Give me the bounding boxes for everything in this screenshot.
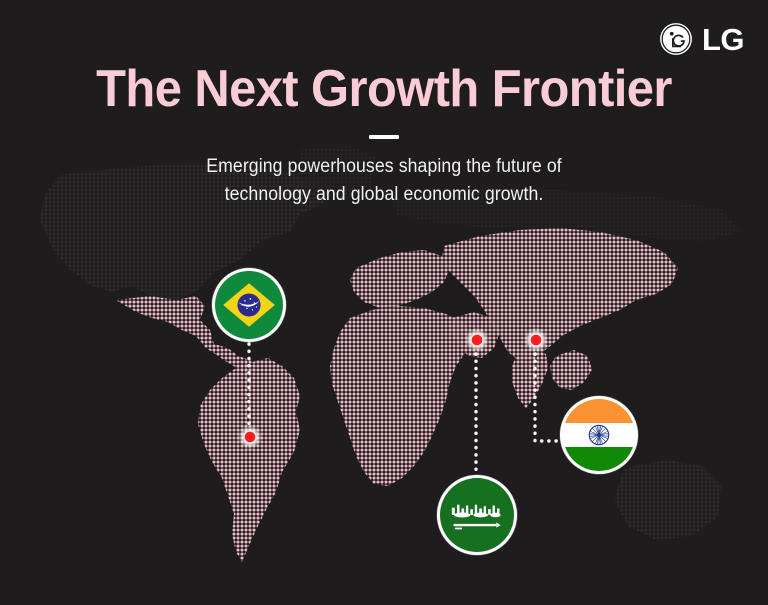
header: The Next Growth Frontier Emerging powerh… (0, 62, 768, 208)
page-title: The Next Growth Frontier (23, 62, 745, 117)
title-divider (369, 135, 399, 139)
flag-saudi-arabia-icon (440, 478, 514, 552)
poster-canvas: LG The Next Growth Frontier Emerging pow… (0, 0, 768, 605)
flag-badge-saudi-arabia[interactable] (437, 475, 517, 555)
flag-india-icon (563, 399, 635, 471)
subtitle-line-1: Emerging powerhouses shaping the future … (27, 153, 741, 181)
lg-wordmark: LG (702, 24, 744, 55)
lg-logo: LG (659, 22, 744, 56)
subtitle-line-2: technology and global economic growth. (27, 181, 741, 209)
map-pin-saudi-arabia[interactable] (464, 327, 490, 353)
flag-brazil-icon (215, 271, 283, 339)
flag-badge-brazil[interactable] (212, 268, 286, 342)
flag-badge-india[interactable] (560, 396, 638, 474)
lg-logo-icon (659, 22, 693, 56)
map-pin-india[interactable] (523, 327, 549, 353)
map-pin-brazil[interactable] (237, 424, 263, 450)
